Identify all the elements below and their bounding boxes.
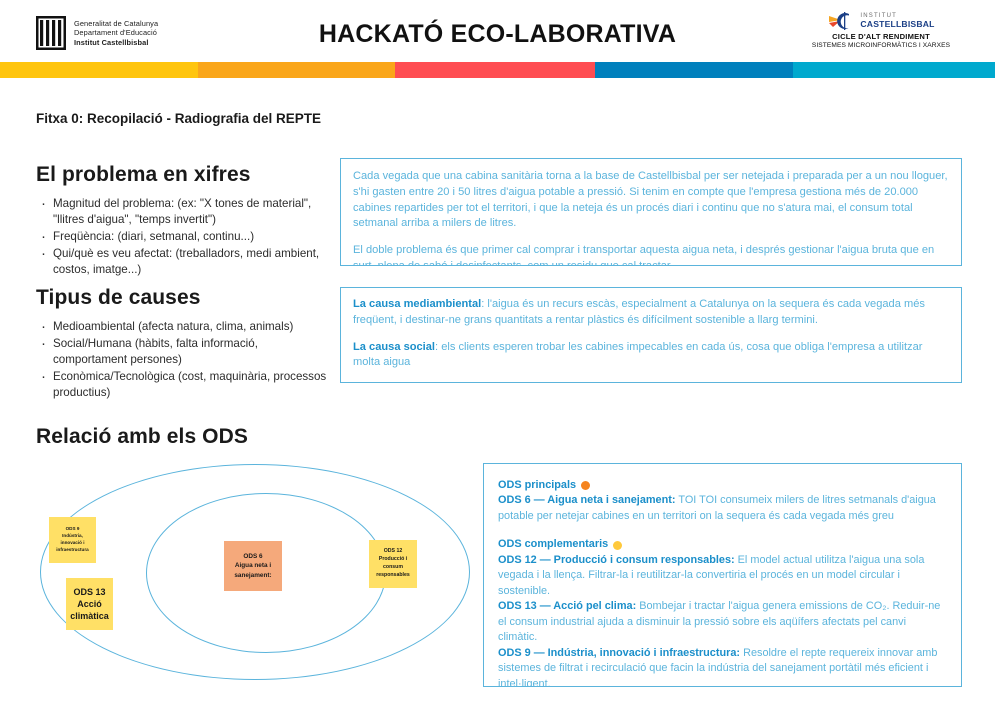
ods-heading: Relació amb els ODS bbox=[36, 425, 248, 449]
orange-dot-icon bbox=[581, 481, 590, 490]
ods13-label: ODS 13 — Acció pel clima: bbox=[498, 600, 636, 612]
list-item: Magnitud del problema: (ex: "X tones de … bbox=[36, 196, 328, 228]
causa-social-text: : els clients esperen trobar les cabines… bbox=[353, 341, 922, 369]
slide-page: Generalitat de Catalunya Departament d'E… bbox=[0, 0, 995, 707]
page-header: Generalitat de Catalunya Departament d'E… bbox=[0, 0, 995, 62]
sticky-note-line: Aigua neta i sanejament: bbox=[227, 561, 279, 580]
sticky-note-ods12[interactable]: ODS 12Producció i consum responsables bbox=[369, 540, 417, 588]
sticky-note-ods9[interactable]: ODS 9Indústria, innovació i infraestruct… bbox=[49, 517, 96, 563]
list-item: Freqüència: (diari, setmanal, continu...… bbox=[36, 229, 328, 245]
institut-castellbisbal-logo-icon: INSTITUT CASTELLBISBAL bbox=[791, 12, 971, 30]
color-segment-gold bbox=[0, 62, 198, 78]
causes-infobox: La causa mediambiental: l'aigua és un re… bbox=[340, 287, 962, 383]
problema-box-paragraph-1: Cada vegada que una cabina sanitària tor… bbox=[353, 169, 949, 232]
list-item: Qui/què es veu afectat: (treballadors, m… bbox=[36, 246, 328, 278]
causa-social-label: La causa social bbox=[353, 341, 435, 353]
ods-infobox: ODS principals ODS 6 — Aigua neta i sane… bbox=[483, 463, 962, 687]
ods9-entry: ODS 9 — Indústria, innovació i infraestr… bbox=[498, 646, 947, 687]
sticky-note-line: Indústria, innovació i infraestructura bbox=[52, 533, 93, 554]
ods12-label: ODS 12 — Producció i consum responsables… bbox=[498, 554, 735, 566]
institut-castellbisbal-logo: INSTITUT CASTELLBISBAL CICLE D'ALT RENDI… bbox=[791, 12, 971, 49]
ods6-label: ODS 6 — Aigua neta i sanejament: bbox=[498, 494, 676, 506]
sticky-note-line: Acció climàtica bbox=[69, 598, 110, 622]
causes-section: Tipus de causes Medioambiental (afecta n… bbox=[36, 286, 328, 402]
ods-principals-title: ODS principals bbox=[498, 478, 947, 493]
causes-bullet-list: Medioambiental (afecta natura, clima, an… bbox=[36, 319, 328, 401]
causa-economica: La causa econòmica i tecnològica: els si… bbox=[353, 382, 949, 383]
sticky-note-line: ODS 9 bbox=[66, 526, 80, 533]
institut-subtitle-2: SISTEMES MICROINFORMÀTICS I XARXES bbox=[791, 42, 971, 49]
list-item: Social/Humana (hàbits, falta informació,… bbox=[36, 336, 328, 368]
causes-heading: Tipus de causes bbox=[36, 286, 328, 310]
color-segment-blue bbox=[595, 62, 793, 78]
ods-complementaris-label: ODS complementaris bbox=[498, 537, 608, 552]
ods-complementaris-title: ODS complementaris bbox=[498, 537, 947, 552]
ods12-entry: ODS 12 — Producció i consum responsables… bbox=[498, 553, 947, 599]
spacer bbox=[498, 524, 947, 537]
color-segment-orange bbox=[198, 62, 395, 78]
causa-mediambiental: La causa mediambiental: l'aigua és un re… bbox=[353, 297, 949, 329]
color-segment-cyan bbox=[793, 62, 995, 78]
ods6-entry: ODS 6 — Aigua neta i sanejament: TOI TOI… bbox=[498, 493, 947, 524]
sticky-note-line: Producció i consum responsables bbox=[372, 556, 414, 579]
list-item: Medioambiental (afecta natura, clima, an… bbox=[36, 319, 328, 335]
problema-infobox: Cada vegada que una cabina sanitària tor… bbox=[340, 158, 962, 266]
causa-mediambiental-label: La causa mediambiental bbox=[353, 298, 481, 310]
institut-mark-glyph-icon bbox=[827, 12, 857, 30]
sticky-note-ods6[interactable]: ODS 6Aigua neta i sanejament: bbox=[224, 541, 282, 591]
yellow-dot-icon bbox=[613, 541, 622, 550]
decorative-color-bar bbox=[0, 62, 995, 78]
problema-section: El problema en xifres Magnitud del probl… bbox=[36, 163, 328, 279]
fitxa-title: Fitxa 0: Recopilació - Radiografia del R… bbox=[36, 111, 321, 126]
institut-mark-line-2: CASTELLBISBAL bbox=[860, 20, 934, 29]
problema-box-paragraph-2: El doble problema és que primer cal comp… bbox=[353, 243, 949, 266]
sticky-note-line: ODS 6 bbox=[243, 552, 262, 562]
causa-social: La causa social: els clients esperen tro… bbox=[353, 340, 949, 372]
sticky-note-line: ODS 12 bbox=[384, 548, 402, 556]
sticky-note-line: ODS 13 bbox=[73, 586, 105, 598]
color-segment-red bbox=[395, 62, 595, 78]
problema-heading: El problema en xifres bbox=[36, 163, 328, 187]
ods-principals-label: ODS principals bbox=[498, 478, 576, 493]
institut-subtitle-1: CICLE D'ALT RENDIMENT bbox=[791, 32, 971, 41]
list-item: Econòmica/Tecnològica (cost, maquinària,… bbox=[36, 369, 328, 401]
problema-bullet-list: Magnitud del problema: (ex: "X tones de … bbox=[36, 196, 328, 278]
ods13-entry: ODS 13 — Acció pel clima: Bombejar i tra… bbox=[498, 599, 947, 645]
sticky-note-ods13[interactable]: ODS 13Acció climàtica bbox=[66, 578, 113, 630]
ods9-label: ODS 9 — Indústria, innovació i infraestr… bbox=[498, 647, 740, 659]
